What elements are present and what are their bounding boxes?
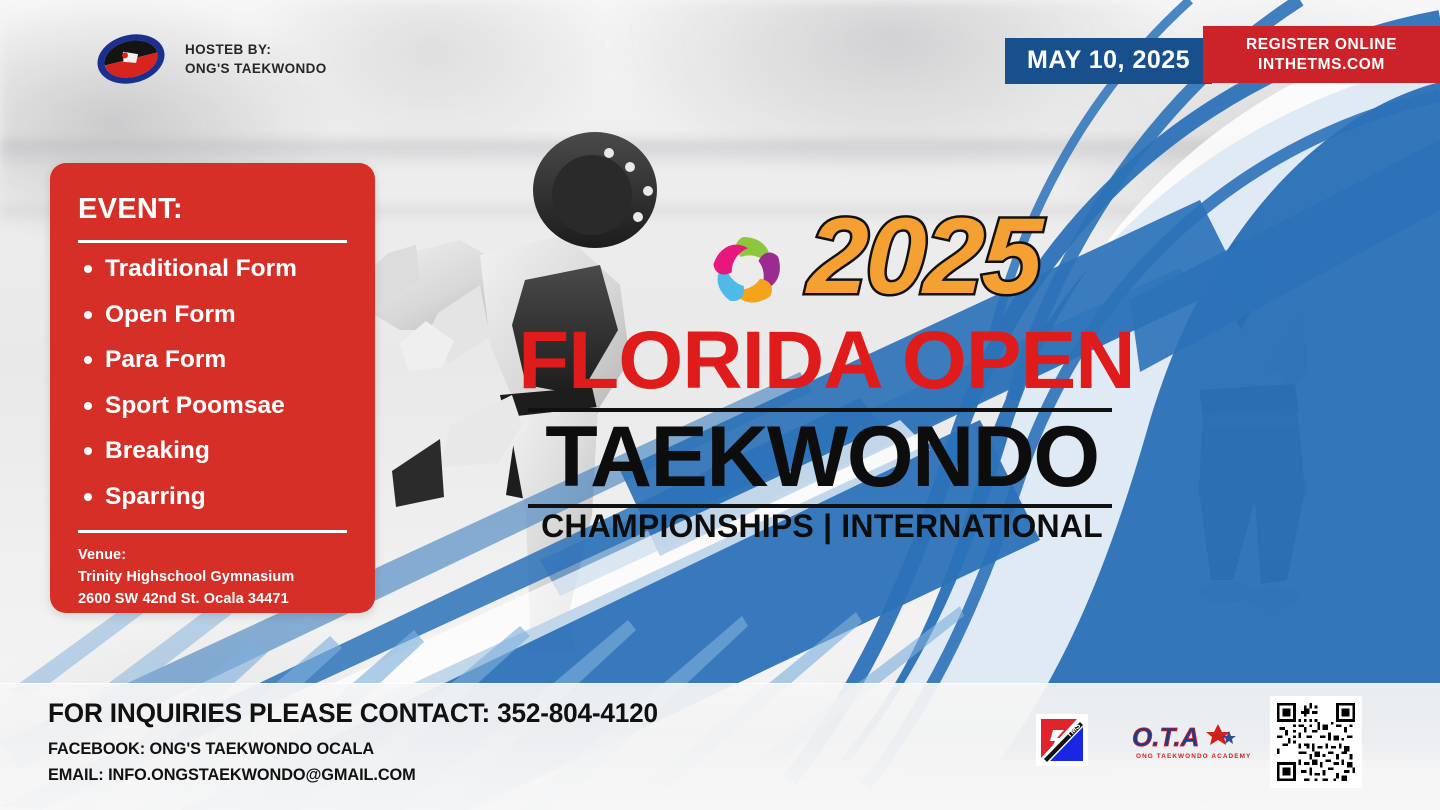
venue-name: Trinity Highschool Gymnasium [78, 567, 347, 589]
register-line-1: REGISTER ONLINE [1246, 35, 1397, 55]
venue-label: Venue: [78, 545, 347, 567]
footer-divider [0, 683, 1440, 684]
tms-logo-icon: TMS [1036, 714, 1088, 766]
title-year: 2025 [806, 202, 1042, 310]
qr-code-icon[interactable] [1270, 696, 1362, 788]
poster-canvas: HOSTEB BY: ONG'S TAEKWONDO MAY 10, 2025 … [0, 0, 1440, 810]
list-item: Sparring [78, 485, 347, 510]
bullet-icon [84, 447, 92, 455]
bullet-icon [84, 402, 92, 410]
host-line-2: ONG'S TAEKWONDO [185, 59, 327, 78]
venue-block: Venue: Trinity Highschool Gymnasium 2600… [78, 545, 347, 610]
event-panel-heading: EVENT: [78, 193, 347, 226]
event-date-badge: MAY 10, 2025 [1005, 38, 1212, 84]
title-taekwondo: TAEKWONDO [526, 412, 1118, 502]
list-item: Traditional Form [78, 257, 347, 282]
svg-text:O.T.A: O.T.A [1132, 722, 1199, 752]
bullet-icon [84, 356, 92, 364]
event-item-label: Sparring [105, 485, 206, 510]
list-item: Breaking [78, 439, 347, 464]
host-line-1: HOSTEB BY: [185, 40, 327, 59]
event-item-label: Sport Poomsae [105, 394, 285, 419]
event-panel: EVENT: Traditional Form Open Form Para F… [50, 163, 375, 613]
register-online-banner[interactable]: REGISTER ONLINE INTHETMS.COM [1203, 26, 1440, 83]
host-text: HOSTEB BY: ONG'S TAEKWONDO [185, 40, 327, 78]
bullet-icon [84, 311, 92, 319]
event-list: Traditional Form Open Form Para Form Spo… [78, 257, 347, 509]
venue-address: 2600 SW 42nd St. Ocala 34471 [78, 589, 347, 611]
list-item: Open Form [78, 303, 347, 328]
event-divider-top [78, 240, 347, 243]
register-url: INTHETMS.COM [1258, 55, 1385, 75]
poomsae-rings-icon [705, 229, 789, 313]
bullet-icon [84, 265, 92, 273]
title-subtitle: CHAMPIONSHIPS | INTERNATIONAL [526, 508, 1118, 545]
ongs-taekwondo-emblem-icon [95, 32, 167, 86]
footer-inquiries: FOR INQUIRIES PLEASE CONTACT: 352-804-41… [48, 698, 658, 729]
footer-facebook: FACEBOOK: ONG'S TAEKWONDO OCALA [48, 739, 374, 759]
event-divider-bottom [78, 530, 347, 533]
host-block: HOSTEB BY: ONG'S TAEKWONDO [95, 32, 327, 86]
event-item-label: Open Form [105, 303, 236, 328]
title-florida-open: FLORIDA OPEN [518, 320, 1122, 402]
event-item-label: Traditional Form [105, 257, 297, 282]
list-item: Sport Poomsae [78, 394, 347, 419]
footer-email: EMAIL: INFO.ONGSTAEKWONDO@GMAIL.COM [48, 765, 416, 785]
svg-text:ONG TAEKWONDO ACADEMY: ONG TAEKWONDO ACADEMY [1136, 753, 1251, 760]
bullet-icon [84, 493, 92, 501]
list-item: Para Form [78, 348, 347, 373]
event-item-label: Breaking [105, 439, 210, 464]
ota-logo-icon: O.T.A O.T.A ONG TAEKWONDO ACADEMY [1130, 718, 1254, 762]
event-item-label: Para Form [105, 348, 226, 373]
